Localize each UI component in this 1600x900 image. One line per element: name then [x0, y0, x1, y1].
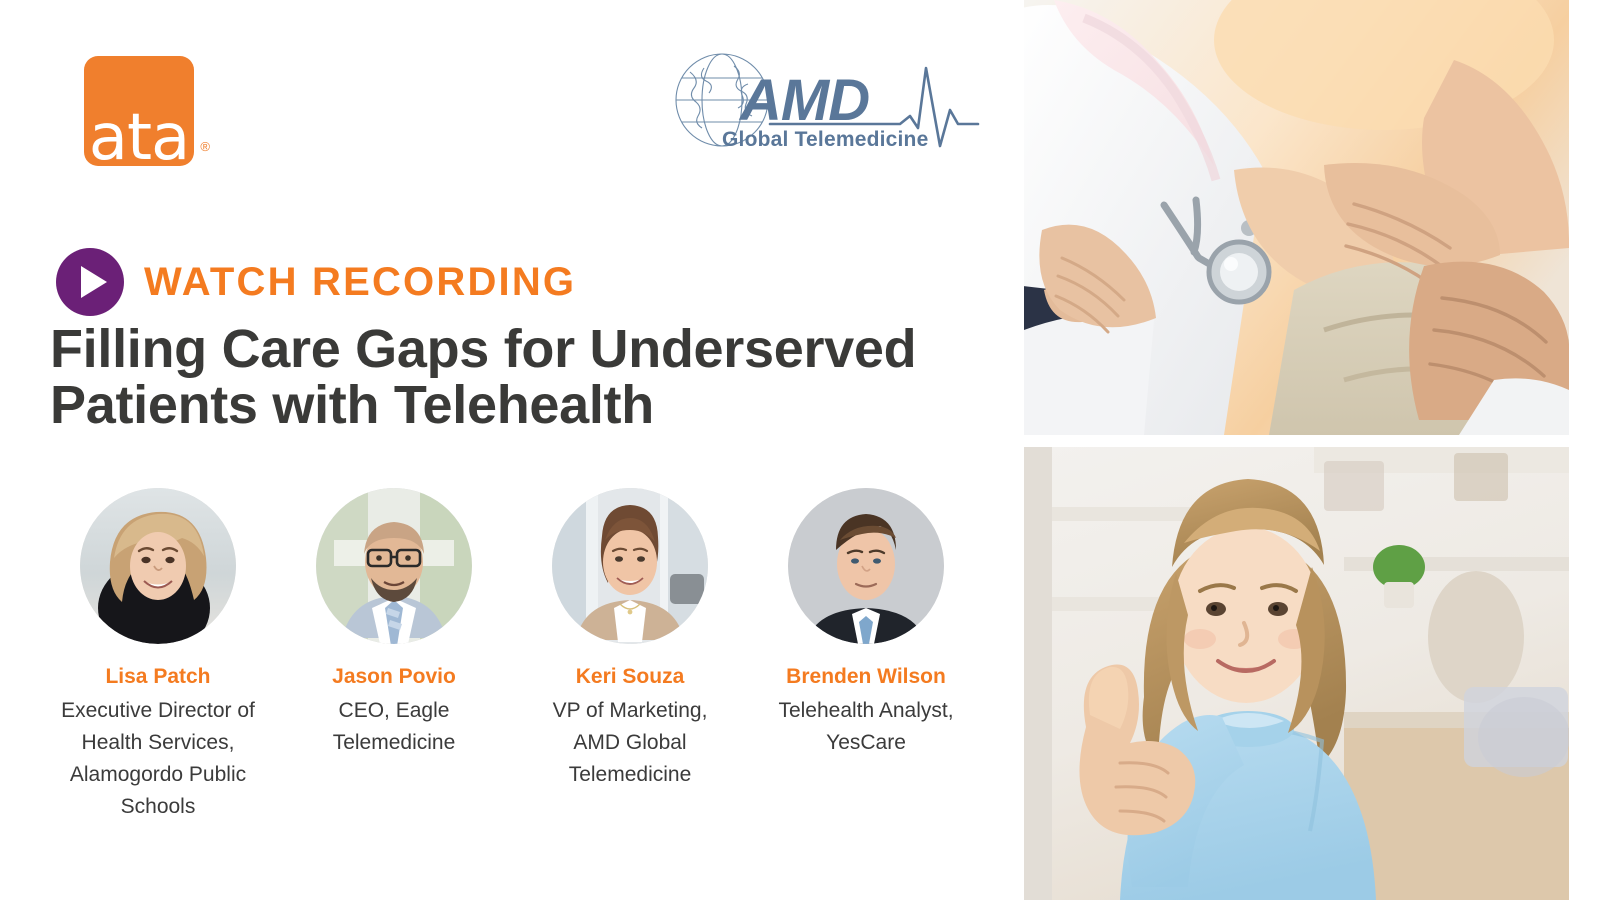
speaker-name: Brenden Wilson	[786, 664, 946, 689]
speaker-role: Executive Director of Health Services, A…	[51, 695, 266, 823]
page-title: Filling Care Gaps for Underserved Patien…	[50, 322, 1000, 433]
child-thumbs-up-illustration	[1024, 447, 1569, 900]
play-triangle-icon	[81, 266, 107, 298]
avatar	[788, 488, 944, 644]
watch-recording-label: WATCH RECORDING	[144, 260, 576, 305]
svg-text:Global Telemedicine: Global Telemedicine	[722, 128, 928, 151]
avatar	[552, 488, 708, 644]
speaker-name: Lisa Patch	[105, 664, 210, 689]
ata-logo: ata ®	[84, 56, 194, 166]
speaker-photo-lisa-patch	[80, 488, 236, 644]
ata-logo-wordmark: ata	[84, 109, 194, 168]
registered-trademark-icon: ®	[200, 139, 210, 154]
speaker-name: Keri Souza	[576, 664, 685, 689]
speaker-card: Brenden Wilson Telehealth Analyst, YesCa…	[748, 488, 984, 759]
speaker-photo-keri-souza	[552, 488, 708, 644]
speaker-card: Lisa Patch Executive Director of Health …	[40, 488, 276, 823]
amd-global-telemedicine-logo: AMD Global Telemedicine	[660, 50, 980, 162]
webinar-promo-slide: ata ® AMD Global Telemedicine	[0, 0, 1600, 900]
speaker-role: Telehealth Analyst, YesCare	[774, 695, 959, 759]
speaker-role: VP of Marketing, AMD Global Telemedicine	[538, 695, 723, 791]
speaker-card: Keri Souza VP of Marketing, AMD Global T…	[512, 488, 748, 791]
speaker-card: Jason Povio CEO, Eagle Telemedicine	[276, 488, 512, 759]
speaker-photo-brenden-wilson	[788, 488, 944, 644]
doctor-patient-illustration	[1024, 0, 1569, 435]
amd-logo-graphic: AMD Global Telemedicine	[660, 50, 980, 162]
speaker-list: Lisa Patch Executive Director of Health …	[40, 488, 984, 823]
play-icon[interactable]	[56, 248, 124, 316]
content-panel: ata ® AMD Global Telemedicine	[0, 0, 1024, 900]
speaker-name: Jason Povio	[332, 664, 456, 689]
image-panel	[1024, 0, 1600, 900]
speaker-photo-jason-povio	[316, 488, 472, 644]
photo-doctor-patient-hands	[1024, 0, 1569, 435]
avatar	[316, 488, 472, 644]
watch-recording-cta[interactable]: WATCH RECORDING	[56, 248, 576, 316]
photo-child-thumbs-up	[1024, 447, 1569, 900]
avatar	[80, 488, 236, 644]
speaker-role: CEO, Eagle Telemedicine	[302, 695, 487, 759]
